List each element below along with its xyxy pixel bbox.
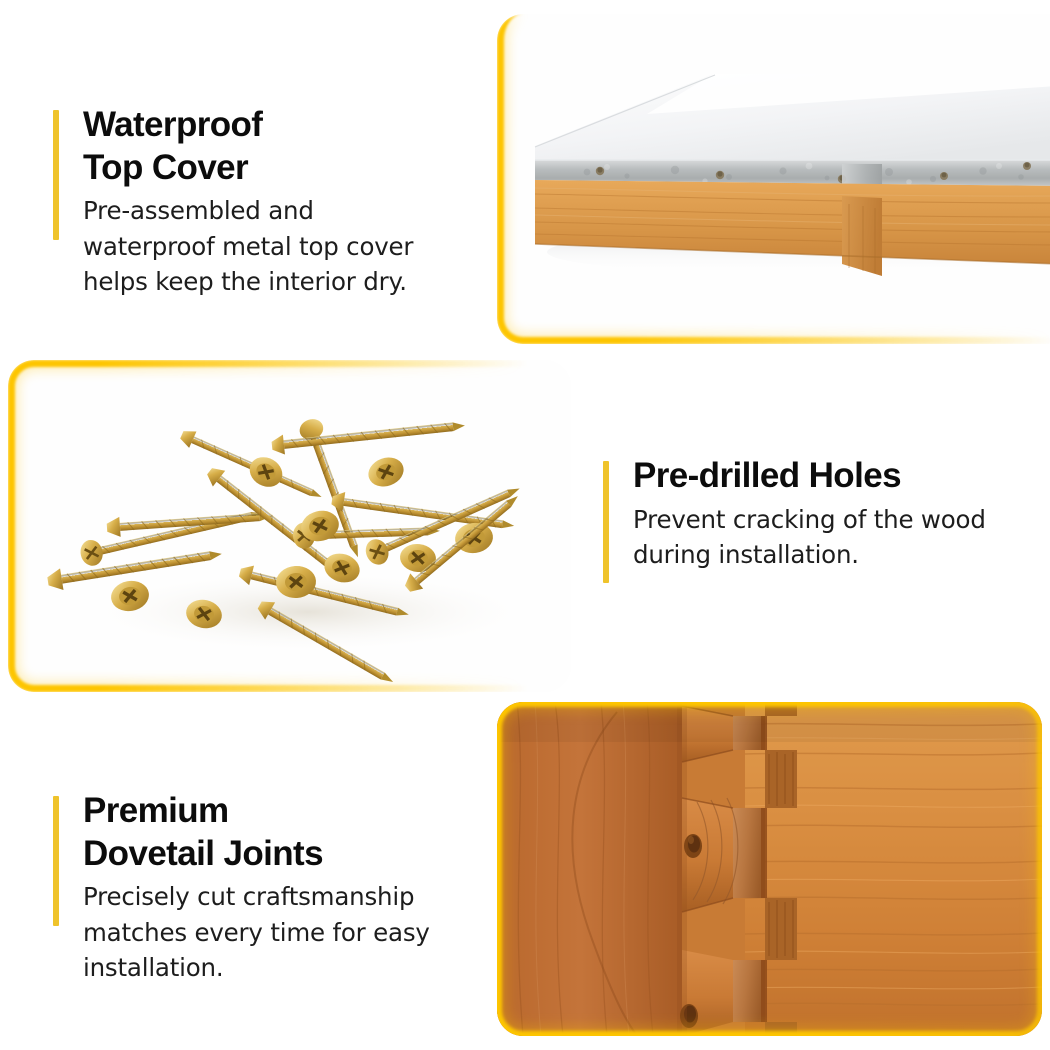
- screws-pile-illustration: [8, 360, 571, 692]
- dovetail-joints-image-panel: [497, 702, 1042, 1036]
- waterproof-top-cover-image-panel: [497, 14, 1050, 344]
- feature-title: Premium Dovetail Joints: [83, 790, 473, 875]
- metal-top-cover-illustration: [497, 14, 1050, 344]
- feature-description: Pre-assembled and waterproof metal top c…: [83, 193, 473, 299]
- feature-pre-drilled-holes: Pre-drilled Holes Prevent cracking of th…: [603, 455, 1023, 572]
- feature-title: Waterproof Top Cover: [83, 104, 473, 189]
- pre-drilled-holes-image-panel: [8, 360, 571, 692]
- dovetail-joint-photo: [497, 702, 1042, 1036]
- feature-waterproof-top-cover: Waterproof Top Cover Pre-assembled and w…: [53, 104, 473, 299]
- feature-title: Pre-drilled Holes: [633, 455, 1023, 498]
- accent-bar: [53, 796, 59, 926]
- accent-bar: [603, 461, 609, 583]
- accent-bar: [53, 110, 59, 240]
- waterproof-top-cover-photo: [497, 14, 1050, 344]
- product-feature-infographic: Waterproof Top Cover Pre-assembled and w…: [0, 0, 1050, 1050]
- feature-description: Precisely cut craftsmanship matches ever…: [83, 879, 473, 985]
- dovetail-joint-illustration: [497, 702, 1042, 1036]
- feature-description: Prevent cracking of the wood during inst…: [633, 502, 1023, 573]
- wood-screws-photo: [8, 360, 571, 692]
- feature-premium-dovetail-joints: Premium Dovetail Joints Precisely cut cr…: [53, 790, 473, 985]
